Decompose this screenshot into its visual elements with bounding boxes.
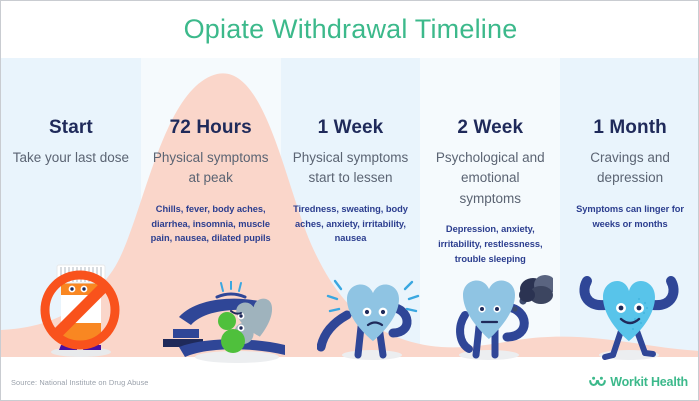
brand-logo[interactable]: Workit Health (589, 375, 688, 389)
title-bar: Opiate Withdrawal Timeline (1, 1, 699, 58)
footer: Source: National Institute on Drug Abuse… (1, 369, 699, 400)
infographic-root: Opiate Withdrawal Timeline Start Take yo… (0, 0, 699, 401)
timeline-chart (1, 58, 699, 371)
source-credit: Source: National Institute on Drug Abuse (11, 378, 149, 387)
symptom-intensity-curve (1, 58, 699, 371)
page-title: Opiate Withdrawal Timeline (184, 14, 518, 45)
workit-logo-icon (589, 376, 606, 388)
brand-name: Workit Health (610, 375, 688, 389)
